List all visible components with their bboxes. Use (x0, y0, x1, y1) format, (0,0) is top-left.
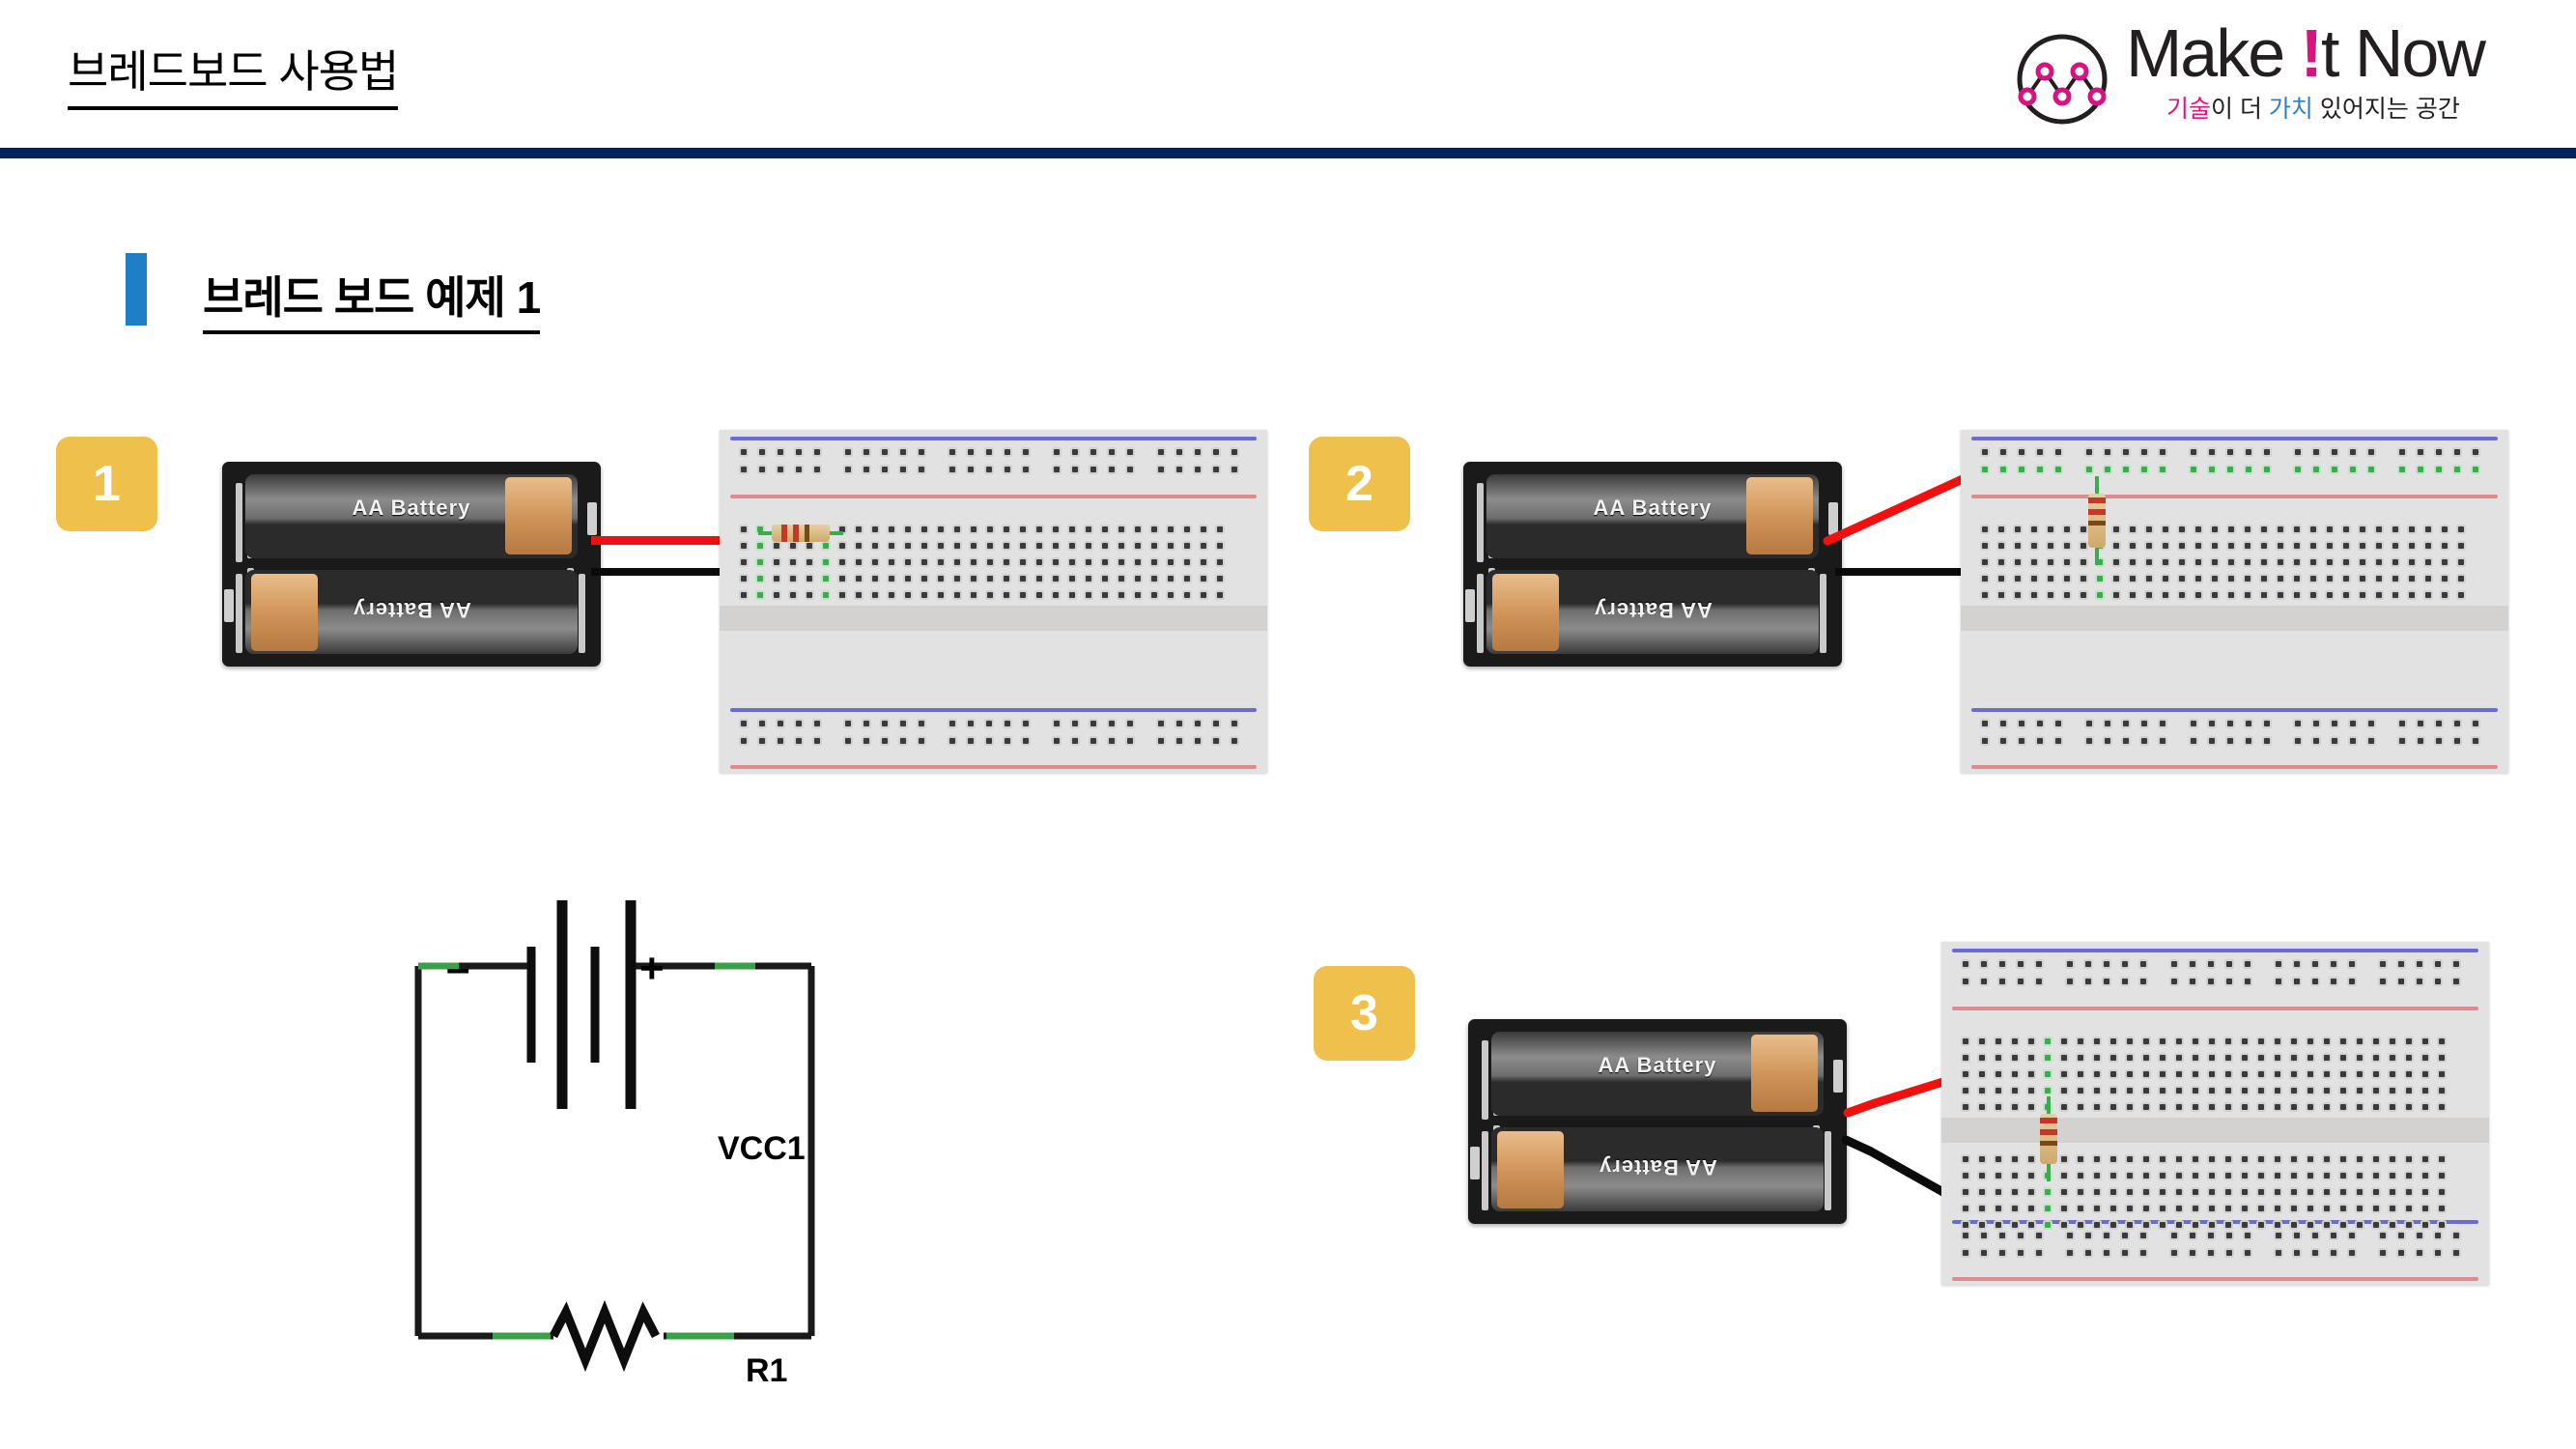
breadboard-hole[interactable] (2258, 1173, 2264, 1179)
breadboard-hole[interactable] (2208, 961, 2214, 967)
breadboard-hole[interactable] (2340, 1206, 2346, 1211)
breadboard-hole[interactable] (2357, 1222, 2363, 1228)
breadboard-hole[interactable] (921, 576, 927, 582)
breadboard-hole[interactable] (2439, 1038, 2445, 1044)
breadboard-hole[interactable] (2160, 449, 2166, 455)
breadboard-hole[interactable] (2193, 1055, 2198, 1061)
breadboard-hole[interactable] (2176, 1038, 2182, 1044)
breadboard-hole[interactable] (1213, 467, 1219, 472)
breadboard-hole[interactable] (1004, 592, 1009, 598)
breadboard-hole[interactable] (1963, 979, 1968, 984)
breadboard-hole[interactable] (2473, 467, 2478, 472)
breadboard-hole[interactable] (2435, 979, 2441, 984)
breadboard-hole[interactable] (2225, 1088, 2231, 1094)
breadboard-hole[interactable] (2291, 1055, 2297, 1061)
breadboard-hole[interactable] (2028, 1071, 2034, 1077)
breadboard-hole[interactable] (2012, 1104, 2018, 1110)
breadboard-hole[interactable] (2422, 1104, 2428, 1110)
breadboard-hole[interactable] (2310, 526, 2316, 532)
breadboard-hole[interactable] (2055, 721, 2061, 726)
breadboard-hole[interactable] (2425, 526, 2431, 532)
breadboard-hole[interactable] (1036, 526, 1042, 532)
breadboard-hole[interactable] (856, 576, 862, 582)
breadboard-hole[interactable] (2048, 526, 2053, 532)
breadboard-hole[interactable] (2242, 1055, 2248, 1061)
breadboard-hole[interactable] (2031, 559, 2037, 565)
breadboard-hole[interactable] (2225, 1156, 2231, 1162)
breadboard-hole[interactable] (845, 738, 851, 744)
breadboard-hole[interactable] (2291, 1206, 2297, 1211)
breadboard-hole[interactable] (2130, 526, 2136, 532)
breadboard-hole[interactable] (2264, 738, 2270, 744)
breadboard-hole[interactable] (2313, 738, 2319, 744)
breadboard-hole[interactable] (2392, 592, 2398, 598)
breadboard-hole[interactable] (1036, 592, 1042, 598)
resistor-component[interactable] (758, 523, 843, 544)
breadboard-hole[interactable] (1054, 467, 1060, 472)
breadboard-hole[interactable] (2340, 1189, 2346, 1195)
breadboard-hole[interactable] (2085, 1233, 2091, 1238)
breadboard-hole[interactable] (2454, 467, 2460, 472)
breadboard-hole[interactable] (2360, 592, 2365, 598)
breadboard-hole[interactable] (1963, 1104, 1968, 1110)
breadboard-hole[interactable] (1151, 576, 1157, 582)
breadboard-hole[interactable] (2258, 1156, 2264, 1162)
breadboard-hole[interactable] (2193, 1189, 2198, 1195)
breadboard-hole[interactable] (2130, 559, 2136, 565)
breadboard-hole[interactable] (2332, 738, 2337, 744)
breadboard-hole[interactable] (2195, 592, 2201, 598)
breadboard-hole[interactable] (1981, 979, 1987, 984)
breadboard-hole[interactable] (2275, 1055, 2280, 1061)
breadboard-hole[interactable] (2122, 979, 2128, 984)
breadboard-hole[interactable] (2291, 1173, 2297, 1179)
breadboard-hole[interactable] (1982, 526, 1988, 532)
breadboard-hole[interactable] (2398, 1233, 2404, 1238)
breadboard-hole[interactable] (2064, 543, 2070, 549)
breadboard-hole[interactable] (2295, 721, 2301, 726)
breadboard-hole[interactable] (987, 559, 993, 565)
breadboard-hole[interactable] (2061, 1173, 2067, 1179)
breadboard-hole[interactable] (2418, 467, 2423, 472)
breadboard-hole[interactable] (2209, 738, 2215, 744)
breadboard-hole[interactable] (1135, 543, 1141, 549)
breadboard-hole[interactable] (2406, 1088, 2412, 1094)
breadboard-hole[interactable] (2110, 1156, 2116, 1162)
breadboard-hole[interactable] (2373, 1088, 2379, 1094)
breadboard-hole[interactable] (1135, 576, 1141, 582)
breadboard-hole[interactable] (882, 738, 888, 744)
breadboard-hole[interactable] (2212, 592, 2218, 598)
breadboard-hole[interactable] (2015, 526, 2021, 532)
breadboard-hole[interactable] (2307, 1206, 2313, 1211)
breadboard-hole[interactable] (2130, 592, 2136, 598)
breadboard-hole[interactable] (1996, 1104, 2001, 1110)
breadboard-hole[interactable] (2368, 449, 2374, 455)
breadboard-hole[interactable] (2307, 1071, 2313, 1077)
breadboard-hole[interactable] (2310, 592, 2316, 598)
breadboard-hole[interactable] (2191, 467, 2196, 472)
breadboard-hole[interactable] (954, 592, 960, 598)
breadboard-hole[interactable] (921, 543, 927, 549)
breadboard-hole[interactable] (2332, 721, 2337, 726)
breadboard-hole[interactable] (1998, 543, 2004, 549)
breadboard-hole[interactable] (778, 449, 783, 455)
breadboard-hole[interactable] (1127, 721, 1133, 726)
breadboard-hole[interactable] (2409, 526, 2415, 532)
breadboard-hole[interactable] (2140, 1233, 2146, 1238)
breadboard-hole[interactable] (1086, 576, 1091, 582)
breadboard-hole[interactable] (2094, 1088, 2100, 1094)
breadboard-hole[interactable] (2331, 979, 2336, 984)
breadboard-hole[interactable] (2327, 559, 2333, 565)
breadboard-hole[interactable] (1023, 467, 1029, 472)
breadboard-hole[interactable] (2294, 1233, 2300, 1238)
breadboard-hole[interactable] (2242, 1173, 2248, 1179)
breadboard-hole[interactable] (774, 559, 779, 565)
breadboard-hole[interactable] (2380, 979, 2386, 984)
breadboard-hole[interactable] (872, 559, 878, 565)
breadboard-hole[interactable] (1217, 592, 1223, 598)
breadboard-hole[interactable] (2453, 1250, 2459, 1256)
breadboard-hole[interactable] (1231, 449, 1237, 455)
breadboard-hole[interactable] (2409, 543, 2415, 549)
breadboard-hole[interactable] (2307, 1088, 2313, 1094)
breadboard-hole[interactable] (1151, 592, 1157, 598)
breadboard-hole[interactable] (1090, 449, 1096, 455)
breadboard-hole[interactable] (2028, 1189, 2034, 1195)
breadboard-hole[interactable] (2067, 979, 2073, 984)
breadboard-hole[interactable] (987, 592, 993, 598)
breadboard-hole[interactable] (2064, 576, 2070, 582)
breadboard-hole[interactable] (2245, 961, 2250, 967)
breadboard-hole[interactable] (1963, 1088, 1968, 1094)
breadboard-hole[interactable] (2376, 576, 2382, 582)
breadboard-hole[interactable] (872, 592, 878, 598)
breadboard-hole[interactable] (1184, 576, 1190, 582)
breadboard-hole[interactable] (1023, 449, 1029, 455)
breadboard-hole[interactable] (2313, 449, 2319, 455)
breadboard-hole[interactable] (2104, 961, 2109, 967)
breadboard-hole[interactable] (2037, 449, 2043, 455)
breadboard-hole[interactable] (2436, 467, 2442, 472)
breadboard-hole[interactable] (1135, 592, 1141, 598)
breadboard-hole[interactable] (2061, 1104, 2067, 1110)
breadboard-hole[interactable] (2275, 1206, 2280, 1211)
breadboard-hole[interactable] (2045, 1222, 2051, 1228)
breadboard-hole[interactable] (774, 576, 779, 582)
breadboard-hole[interactable] (2376, 559, 2382, 565)
breadboard-hole[interactable] (2390, 1206, 2395, 1211)
breadboard-hole[interactable] (2037, 721, 2043, 726)
breadboard-hole[interactable] (2127, 1189, 2133, 1195)
breadboard-hole[interactable] (1217, 543, 1223, 549)
breadboard-hole[interactable] (2130, 543, 2136, 549)
breadboard-hole[interactable] (2261, 576, 2267, 582)
breadboard-hole[interactable] (1135, 526, 1141, 532)
breadboard-hole[interactable] (2327, 592, 2333, 598)
breadboard-hole[interactable] (2193, 1088, 2198, 1094)
breadboard-hole[interactable] (1004, 543, 1009, 549)
breadboard-hole[interactable] (2439, 1104, 2445, 1110)
breadboard-hole[interactable] (2122, 1233, 2128, 1238)
breadboard-hole[interactable] (2390, 1104, 2395, 1110)
breadboard-hole[interactable] (2368, 467, 2374, 472)
breadboard-hole[interactable] (2332, 449, 2337, 455)
breadboard-hole[interactable] (2086, 449, 2092, 455)
breadboard-hole[interactable] (2291, 1088, 2297, 1094)
breadboard-hole[interactable] (1158, 449, 1164, 455)
breadboard-hole[interactable] (2390, 1173, 2395, 1179)
breadboard-hole[interactable] (2104, 979, 2109, 984)
breadboard-hole[interactable] (1963, 1250, 1968, 1256)
breadboard-hole[interactable] (1982, 559, 1988, 565)
breadboard-hole[interactable] (2061, 1222, 2067, 1228)
breadboard-hole[interactable] (2110, 1189, 2116, 1195)
breadboard-hole[interactable] (2264, 721, 2270, 726)
breadboard-hole[interactable] (2048, 543, 2053, 549)
breadboard-hole[interactable] (2417, 1250, 2422, 1256)
breadboard-hole[interactable] (2193, 1104, 2198, 1110)
breadboard-hole[interactable] (2067, 961, 2073, 967)
breadboard-hole[interactable] (954, 526, 960, 532)
breadboard-hole[interactable] (2275, 1173, 2280, 1179)
breadboard-hole[interactable] (2078, 1156, 2083, 1162)
breadboard-hole[interactable] (1184, 543, 1190, 549)
breadboard-hole[interactable] (2340, 1088, 2346, 1094)
breadboard-hole[interactable] (889, 559, 894, 565)
breadboard-hole[interactable] (1213, 721, 1219, 726)
breadboard-hole[interactable] (2340, 1156, 2346, 1162)
breadboard-hole[interactable] (2278, 526, 2283, 532)
breadboard-hole[interactable] (2061, 1088, 2067, 1094)
breadboard-hole[interactable] (2110, 1104, 2116, 1110)
breadboard-hole[interactable] (2278, 559, 2283, 565)
breadboard-hole[interactable] (759, 467, 765, 472)
breadboard-hole[interactable] (2228, 576, 2234, 582)
breadboard-hole[interactable] (2094, 1189, 2100, 1195)
breadboard-hole[interactable] (1168, 526, 1174, 532)
breadboard-hole[interactable] (856, 592, 862, 598)
breadboard-hole[interactable] (2350, 738, 2356, 744)
breadboard-hole[interactable] (2360, 559, 2365, 565)
breadboard-hole[interactable] (2055, 738, 2061, 744)
breadboard-hole[interactable] (2143, 1038, 2149, 1044)
breadboard-hole[interactable] (1982, 592, 1988, 598)
breadboard-hole[interactable] (921, 526, 927, 532)
breadboard-hole[interactable] (2436, 449, 2442, 455)
breadboard-hole[interactable] (2435, 961, 2441, 967)
breadboard-hole[interactable] (2225, 1173, 2231, 1179)
breadboard-hole[interactable] (968, 721, 974, 726)
breadboard-hole[interactable] (954, 559, 960, 565)
breadboard-hole[interactable] (921, 592, 927, 598)
breadboard-hole[interactable] (987, 543, 993, 549)
breadboard-hole[interactable] (2275, 1156, 2280, 1162)
breadboard-hole[interactable] (1996, 1189, 2001, 1195)
breadboard-hole[interactable] (2458, 576, 2464, 582)
breadboard-hole[interactable] (905, 559, 911, 565)
breadboard-hole[interactable] (1053, 592, 1059, 598)
breadboard-hole[interactable] (1020, 592, 1026, 598)
breadboard-hole[interactable] (2143, 1173, 2149, 1179)
breadboard-hole[interactable] (863, 449, 869, 455)
breadboard-hole[interactable] (2140, 961, 2146, 967)
breadboard-hole[interactable] (2212, 576, 2218, 582)
breadboard-hole[interactable] (2422, 1206, 2428, 1211)
breadboard-hole[interactable] (2406, 1222, 2412, 1228)
breadboard-hole[interactable] (2294, 559, 2300, 565)
breadboard-hole[interactable] (2018, 979, 2024, 984)
breadboard-hole[interactable] (1086, 592, 1091, 598)
breadboard-hole[interactable] (2019, 721, 2024, 726)
breadboard-hole[interactable] (2015, 592, 2021, 598)
breadboard-hole[interactable] (2061, 1189, 2067, 1195)
breadboard-hole[interactable] (2264, 449, 2270, 455)
breadboard-hole[interactable] (971, 543, 977, 549)
breadboard-hole[interactable] (2453, 979, 2459, 984)
breadboard-hole[interactable] (2368, 721, 2374, 726)
breadboard-hole[interactable] (905, 526, 911, 532)
breadboard-hole[interactable] (2064, 559, 2070, 565)
breadboard-hole[interactable] (2160, 1173, 2166, 1179)
breadboard-hole[interactable] (2454, 738, 2460, 744)
breadboard-hole[interactable] (2406, 1104, 2412, 1110)
breadboard-hole[interactable] (1982, 543, 1988, 549)
breadboard-hole[interactable] (938, 576, 944, 582)
breadboard-hole[interactable] (2193, 1222, 2198, 1228)
breadboard-hole[interactable] (2123, 467, 2129, 472)
breadboard-hole[interactable] (1069, 526, 1075, 532)
breadboard-hole[interactable] (2294, 979, 2300, 984)
breadboard-hole[interactable] (2454, 721, 2460, 726)
breadboard-hole[interactable] (2228, 559, 2234, 565)
breadboard-hole[interactable] (2294, 543, 2300, 549)
breadboard-hole[interactable] (1996, 1055, 2001, 1061)
breadboard-hole[interactable] (2357, 1038, 2363, 1044)
breadboard-hole[interactable] (2417, 961, 2422, 967)
breadboard-hole[interactable] (2143, 1206, 2149, 1211)
breadboard-hole[interactable] (863, 467, 869, 472)
breadboard-hole[interactable] (2357, 1071, 2363, 1077)
breadboard-hole[interactable] (905, 576, 911, 582)
breadboard-hole[interactable] (2291, 1038, 2297, 1044)
breadboard-hole[interactable] (2171, 1233, 2177, 1238)
breadboard-hole[interactable] (2439, 1189, 2445, 1195)
breadboard-hole[interactable] (807, 559, 812, 565)
breadboard-hole[interactable] (2425, 559, 2431, 565)
breadboard-hole[interactable] (2228, 592, 2234, 598)
breadboard-hole[interactable] (1158, 467, 1164, 472)
breadboard-hole[interactable] (1151, 543, 1157, 549)
breadboard-hole[interactable] (2340, 1055, 2346, 1061)
resistor-component[interactable] (2086, 476, 2108, 565)
breadboard-hole[interactable] (1090, 721, 1096, 726)
breadboard-hole[interactable] (2225, 1206, 2231, 1211)
breadboard-hole[interactable] (1963, 1189, 1968, 1195)
breadboard-hole[interactable] (2045, 1071, 2051, 1077)
breadboard-hole[interactable] (1102, 592, 1108, 598)
breadboard-hole[interactable] (741, 576, 747, 582)
breadboard-hole[interactable] (2143, 1189, 2149, 1195)
breadboard-hole[interactable] (2406, 1055, 2412, 1061)
breadboard-hole[interactable] (987, 576, 993, 582)
breadboard-hole[interactable] (2350, 467, 2356, 472)
breadboard-hole[interactable] (1118, 526, 1124, 532)
breadboard-hole[interactable] (2064, 526, 2070, 532)
breadboard-hole[interactable] (2422, 1088, 2428, 1094)
breadboard-hole[interactable] (2390, 1189, 2395, 1195)
breadboard-hole[interactable] (839, 559, 845, 565)
breadboard-hole[interactable] (2360, 576, 2365, 582)
breadboard-hole[interactable] (1999, 1233, 2005, 1238)
breadboard-hole[interactable] (905, 592, 911, 598)
breadboard-hole[interactable] (823, 592, 829, 598)
breadboard-hole[interactable] (2261, 559, 2267, 565)
breadboard-hole[interactable] (2357, 1189, 2363, 1195)
breadboard-hole[interactable] (2019, 449, 2024, 455)
breadboard-hole[interactable] (1184, 559, 1190, 565)
breadboard-hole[interactable] (2225, 1104, 2231, 1110)
breadboard-hole[interactable] (2373, 1038, 2379, 1044)
breadboard-hole[interactable] (1963, 1222, 1968, 1228)
breadboard-hole[interactable] (2176, 1055, 2182, 1061)
breadboard-hole[interactable] (2028, 1038, 2034, 1044)
breadboard-hole[interactable] (2122, 1250, 2128, 1256)
breadboard-hole[interactable] (2000, 467, 2006, 472)
breadboard-hole[interactable] (1963, 1206, 1968, 1211)
breadboard-hole[interactable] (2019, 738, 2024, 744)
breadboard-hole[interactable] (1998, 559, 2004, 565)
breadboard-hole[interactable] (2357, 1088, 2363, 1094)
breadboard-hole[interactable] (1195, 721, 1201, 726)
breadboard-hole[interactable] (2160, 721, 2166, 726)
breadboard-hole[interactable] (2067, 1250, 2073, 1256)
breadboard-hole[interactable] (2212, 543, 2218, 549)
breadboard-hole[interactable] (2422, 1038, 2428, 1044)
breadboard-hole[interactable] (2078, 1222, 2083, 1228)
breadboard-hole[interactable] (2225, 1222, 2231, 1228)
breadboard-hole[interactable] (2392, 526, 2398, 532)
breadboard-hole[interactable] (1979, 1088, 1985, 1094)
breadboard-hole[interactable] (2357, 1206, 2363, 1211)
breadboard-hole[interactable] (845, 467, 851, 472)
breadboard-hole[interactable] (2097, 592, 2103, 598)
breadboard-hole[interactable] (1996, 1071, 2001, 1077)
breadboard-hole[interactable] (1996, 1206, 2001, 1211)
breadboard-hole[interactable] (1963, 1038, 1968, 1044)
breadboard-hole[interactable] (2028, 1222, 2034, 1228)
breadboard-hole[interactable] (2245, 1250, 2250, 1256)
breadboard-hole[interactable] (2312, 961, 2318, 967)
breadboard-hole[interactable] (2110, 1206, 2116, 1211)
breadboard-hole[interactable] (2105, 738, 2110, 744)
breadboard-hole[interactable] (2012, 1222, 2018, 1228)
breadboard-hole[interactable] (2258, 1222, 2264, 1228)
breadboard-hole[interactable] (2193, 1156, 2198, 1162)
breadboard-hole[interactable] (1036, 543, 1042, 549)
breadboard-hole[interactable] (790, 576, 796, 582)
breadboard-hole[interactable] (2225, 1189, 2231, 1195)
breadboard-hole[interactable] (2208, 1250, 2214, 1256)
breadboard-hole[interactable] (2442, 543, 2448, 549)
breadboard-hole[interactable] (2376, 526, 2382, 532)
breadboard-hole[interactable] (919, 449, 924, 455)
breadboard-hole[interactable] (2242, 1206, 2248, 1211)
breadboard-hole[interactable] (2373, 1206, 2379, 1211)
breadboard-hole[interactable] (1982, 738, 1988, 744)
breadboard-hole[interactable] (2012, 1038, 2018, 1044)
